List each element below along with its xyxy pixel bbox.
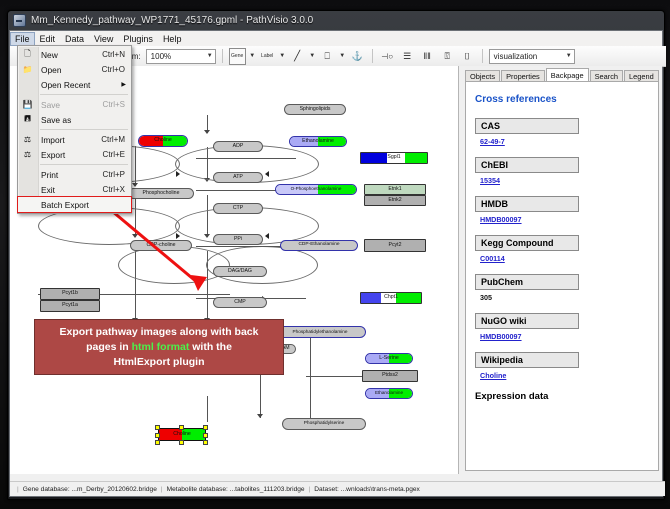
menu-item-accel: Ctrl+E	[103, 150, 125, 159]
menu-separator	[40, 94, 128, 95]
menu-item-accel: Ctrl+S	[103, 100, 125, 109]
menu-item-accel: Ctrl+O	[102, 65, 125, 74]
save-disk-icon: 💾	[21, 99, 34, 111]
menu-separator-3	[40, 164, 128, 165]
menu-item-save-as[interactable]: 🖪 Save as	[18, 112, 131, 127]
folder-open-icon: 📁	[21, 64, 34, 76]
callout-line2-highlight: html format	[132, 341, 190, 353]
new-file-icon: 🗋	[21, 49, 34, 61]
window-title: Mm_Kennedy_pathway_WP1771_45176.gpml - P…	[31, 15, 313, 26]
menu-item-import[interactable]: ⚖ Import Ctrl+M	[18, 132, 131, 147]
menu-item-open[interactable]: 📁 Open Ctrl+O	[18, 62, 131, 77]
menu-item-label: Open Recent	[41, 80, 90, 90]
menu-item-accel: Ctrl+M	[101, 135, 125, 144]
menu-item-label: Open	[41, 65, 62, 75]
menu-item-label: New	[41, 50, 58, 60]
callout-line2-b: with the	[189, 341, 232, 353]
menu-item-batch-export[interactable]: Batch Export	[18, 197, 131, 212]
menu-item-open-recent[interactable]: Open Recent ▶	[18, 77, 131, 92]
menu-item-new[interactable]: 🗋 New Ctrl+N	[18, 47, 131, 62]
callout-line3: HtmlExport plugin	[114, 356, 205, 368]
app-icon	[13, 14, 26, 27]
export-icon: ⚖	[21, 149, 34, 161]
menu-item-label: Import	[41, 135, 65, 145]
menu-item-accel: Ctrl+P	[103, 170, 125, 179]
callout-line2-a: pages in	[86, 341, 132, 353]
menu-item-label: Batch Export	[41, 200, 89, 210]
menu-item-label: Print	[41, 170, 58, 180]
menu-item-label: Save as	[41, 115, 71, 125]
chevron-right-icon: ▶	[121, 81, 126, 88]
menu-item-label: Export	[41, 150, 65, 160]
file-menu-dropdown[interactable]: 🗋 New Ctrl+N 📁 Open Ctrl+O Open Recent ▶…	[17, 45, 132, 214]
application-client-area: File Edit Data View Plugins Help Zoom: 1…	[9, 30, 663, 497]
menu-item-label: Save	[41, 100, 60, 110]
menu-item-print[interactable]: Print Ctrl+P	[18, 167, 131, 182]
menu-item-save: 💾 Save Ctrl+S	[18, 97, 131, 112]
menu-item-export[interactable]: ⚖ Export Ctrl+E	[18, 147, 131, 162]
callout-line1: Export pathway images along with back	[60, 326, 259, 338]
menu-item-label: Exit	[41, 185, 55, 195]
save-as-icon: 🖪	[21, 114, 34, 126]
title-bar: Mm_Kennedy_pathway_WP1771_45176.gpml - P…	[8, 11, 667, 30]
import-icon: ⚖	[21, 134, 34, 146]
menu-item-accel: Ctrl+X	[103, 185, 125, 194]
annotation-callout: Export pathway images along with back pa…	[34, 319, 284, 375]
menu-item-exit[interactable]: Exit Ctrl+X	[18, 182, 131, 197]
menu-item-accel: Ctrl+N	[102, 50, 125, 59]
menu-separator-2	[40, 129, 128, 130]
